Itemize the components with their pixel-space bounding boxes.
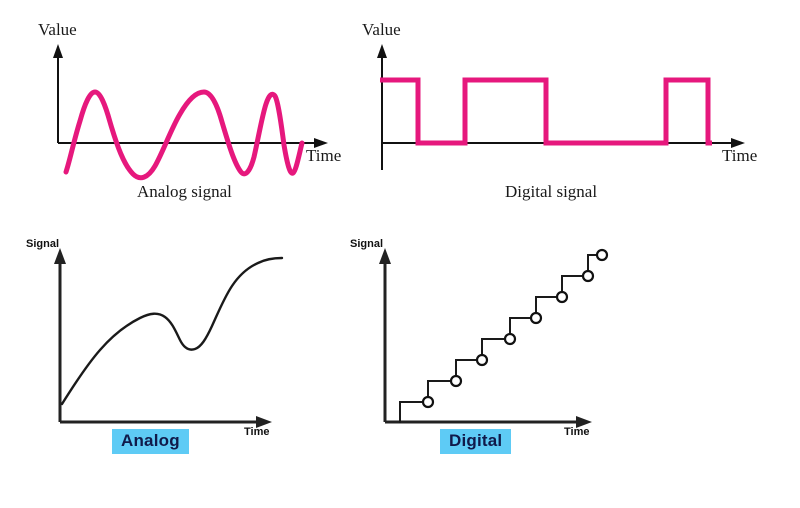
panel-digital-step: Signal Time Digital [330,228,660,508]
step-marker [557,292,567,302]
analog-curve-chart [0,228,330,508]
digital-signal-x-label: Time [722,146,757,166]
x-axis-digital-step [385,416,592,428]
analog-curve-x-label: Time [244,426,269,438]
analog-signal-y-label: Value [38,20,77,40]
step-marker [597,250,607,260]
digital-step-chart [330,228,660,508]
digital-step-markers [423,250,607,407]
analog-curve-badge: Analog [112,429,189,454]
step-marker [451,376,461,386]
panel-digital-signal: Value Time Digital signal [360,0,800,220]
digital-step-x-label: Time [564,426,589,438]
digital-step-y-label: Signal [350,238,383,250]
step-marker [583,271,593,281]
step-marker [505,334,515,344]
digital-signal-y-label: Value [362,20,401,40]
digital-signal-caption: Digital signal [505,182,597,202]
panel-analog-curve: Signal Time Analog [0,228,330,508]
step-marker [423,397,433,407]
analog-curve-path [62,258,282,404]
analog-signal-caption: Analog signal [137,182,232,202]
y-axis-analog-curve [54,248,66,422]
y-axis-analog-signal [53,44,63,143]
analog-waveform-path [66,92,302,178]
digital-waveform-path [380,80,712,143]
y-axis-digital-signal [377,44,387,170]
figure-canvas: Value Time Analog signal Value Time Digi… [0,0,800,508]
analog-signal-x-label: Time [306,146,341,166]
digital-step-badge: Digital [440,429,511,454]
x-axis-analog-signal [58,138,328,148]
x-axis-analog-curve [60,416,272,428]
y-axis-digital-step [379,248,391,422]
analog-curve-y-label: Signal [26,238,59,250]
step-marker [477,355,487,365]
panel-analog-signal: Value Time Analog signal [0,0,370,220]
step-marker [531,313,541,323]
